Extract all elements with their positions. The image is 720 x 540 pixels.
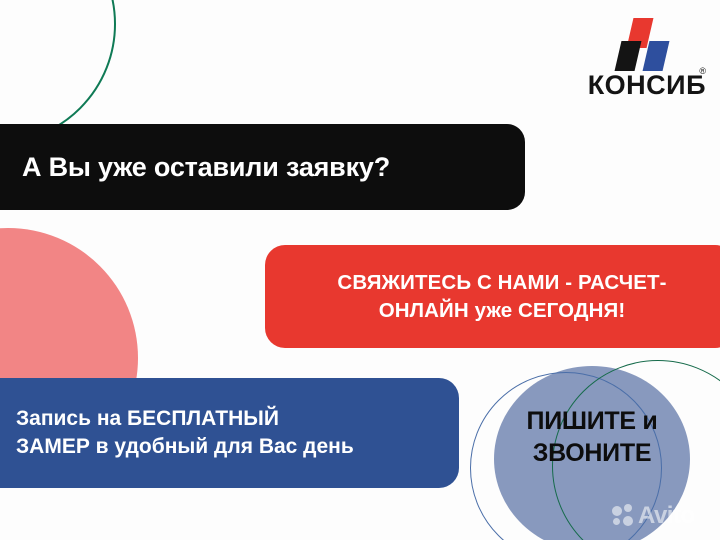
question-banner-text: А Вы уже оставили заявку? bbox=[22, 152, 390, 183]
brand-logo: КОНСИБ ® bbox=[566, 18, 706, 104]
free-measurement-banner: Запись на БЕСПЛАТНЫЙ ЗАМЕР в удобный для… bbox=[0, 378, 459, 488]
promo-banner-canvas: КОНСИБ ® А Вы уже оставили заявку? СВЯЖИ… bbox=[0, 0, 720, 540]
avito-watermark-label: Avito bbox=[638, 504, 695, 528]
contact-banner-text: СВЯЖИТЕСЬ С НАМИ - РАСЧЕТ- ОНЛАЙН уже СЕ… bbox=[287, 269, 717, 324]
avito-watermark: Avito bbox=[612, 500, 716, 532]
free-measurement-line1: Запись на БЕСПЛАТНЫЙ bbox=[16, 407, 279, 430]
free-measurement-banner-text: Запись на БЕСПЛАТНЫЙ ЗАМЕР в удобный для… bbox=[16, 405, 354, 462]
write-and-call-line1: ПИШИТЕ и bbox=[527, 407, 658, 435]
write-and-call-text: ПИШИТЕ и ЗВОНИТЕ bbox=[489, 405, 695, 469]
logo-mark-icon bbox=[606, 18, 678, 70]
contact-banner-already: уже bbox=[475, 299, 513, 322]
green-ring-top-left-decoration bbox=[0, 0, 116, 144]
registered-trademark-icon: ® bbox=[699, 66, 706, 76]
avito-dots-icon bbox=[612, 504, 638, 528]
write-and-call-line2: ЗВОНИТЕ bbox=[533, 439, 651, 467]
contact-banner-line1: СВЯЖИТЕСЬ С НАМИ - РАСЧЕТ- bbox=[337, 271, 666, 294]
logo-wordmark: КОНСИБ bbox=[566, 72, 706, 99]
logo-parallelogram-black-icon bbox=[615, 41, 642, 71]
contact-banner-online: ОНЛАЙН bbox=[379, 299, 469, 322]
free-measurement-line2: ЗАМЕР в удобный для Вас день bbox=[16, 435, 354, 458]
question-banner: А Вы уже оставили заявку? bbox=[0, 124, 525, 210]
contact-banner-today: СЕГОДНЯ! bbox=[518, 299, 625, 322]
contact-banner: СВЯЖИТЕСЬ С НАМИ - РАСЧЕТ- ОНЛАЙН уже СЕ… bbox=[265, 245, 720, 348]
